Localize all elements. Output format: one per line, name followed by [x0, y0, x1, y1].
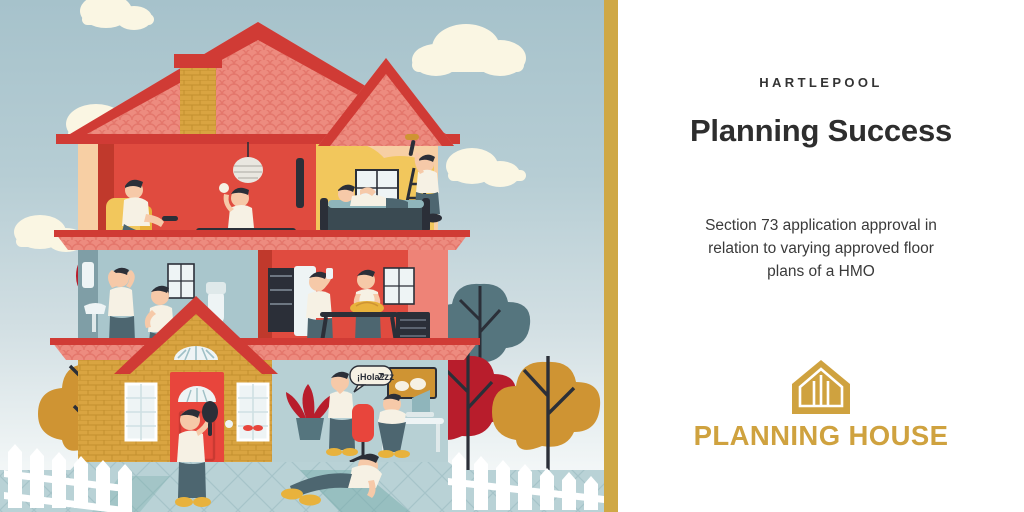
sink [84, 303, 106, 314]
tv-remote [162, 216, 178, 221]
milk-carton [326, 268, 333, 279]
logo-wordmark: PLANNING HOUSE [694, 422, 949, 450]
television [296, 158, 304, 208]
plant-pot [296, 418, 324, 440]
paint-roller [405, 134, 419, 140]
bathroom-mirror [82, 262, 94, 288]
pendant-lamp [233, 157, 263, 183]
floor-band-top [54, 230, 470, 250]
sleep-zzz-text: Zzz [378, 372, 394, 383]
promo-card: ¡Hola? [0, 0, 1024, 512]
oven [396, 312, 430, 342]
text-panel: HARTLEPOOL Planning Success Section 73 a… [618, 0, 1024, 512]
floor-band-middle [50, 338, 480, 360]
cutaway-house-illustration: ¡Hola? [0, 0, 604, 512]
door-knob [225, 420, 233, 428]
hand-mirror [202, 401, 218, 423]
planning-house-logo: PLANNING HOUSE [694, 359, 949, 450]
page-title: Planning Success [690, 114, 952, 148]
description-text: Section 73 application approval in relat… [692, 215, 950, 284]
office-chair [352, 404, 374, 442]
gold-divider-bar [604, 0, 618, 512]
chimney [174, 54, 222, 134]
bed [320, 206, 430, 230]
popcorn [219, 183, 229, 193]
house-logo-icon [791, 359, 851, 415]
fridge-interior [268, 268, 294, 332]
location-eyebrow: HARTLEPOOL [759, 76, 883, 89]
kitchen-counter [320, 312, 398, 317]
